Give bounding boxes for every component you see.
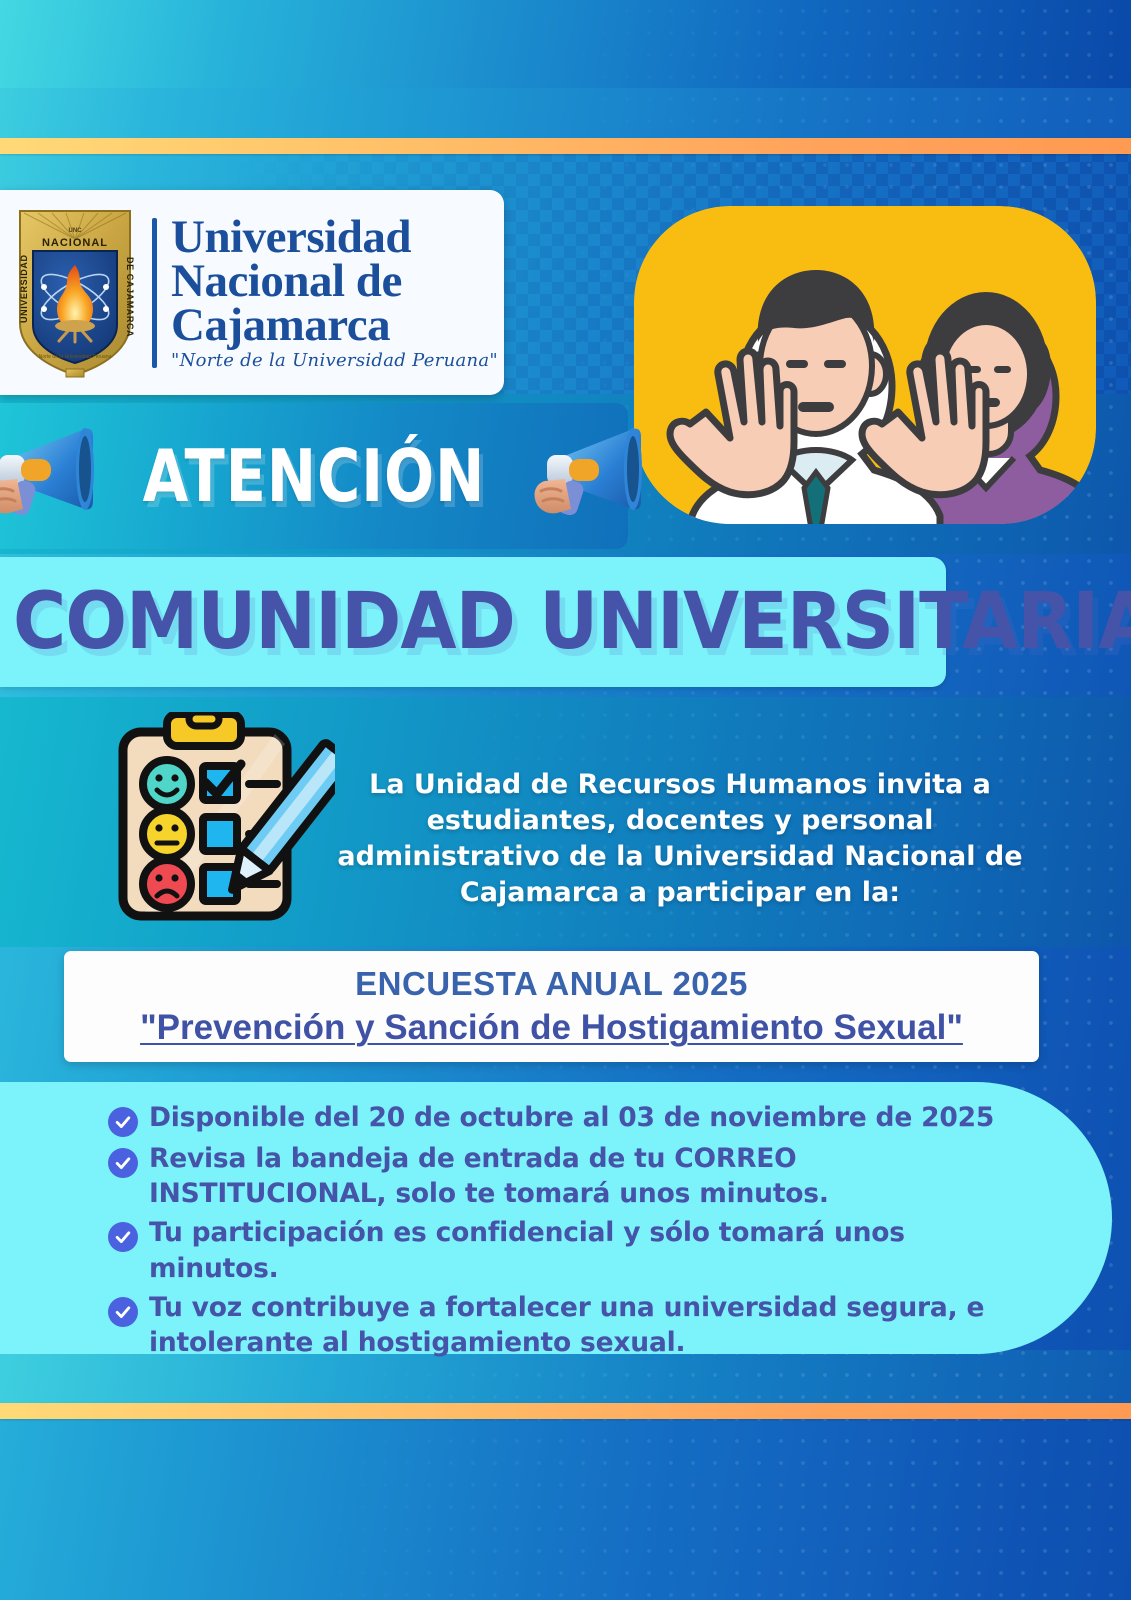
list-item-label: Tu voz contribuye a fortalecer una unive…: [149, 1290, 1010, 1360]
poster-canvas: UNC NACIONAL UNIVERSIDAD DE CAJAMARCA No…: [0, 0, 1131, 1600]
university-slogan: "Norte de la Universidad Peruana": [171, 353, 498, 370]
decorative-stripe-top: [0, 138, 1131, 154]
two-people-stop-gesture-illustration: [634, 206, 1096, 524]
university-name-block: Universidad Nacional de Cajamarca "Norte…: [171, 215, 498, 370]
megaphone-icon: [0, 419, 99, 534]
survey-subtitle: "Prevención y Sanción de Hostigamiento S…: [140, 1008, 963, 1048]
list-item-label: Disponible del 20 de octubre al 03 de no…: [149, 1100, 994, 1135]
svg-text:UNC: UNC: [69, 228, 83, 234]
logo-divider: [152, 218, 157, 368]
svg-text:Norte de la Universidad Peruan: Norte de la Universidad Peruana: [39, 354, 112, 360]
list-item-label: Revisa la bandeja de entrada de tu CORRE…: [149, 1141, 1010, 1211]
list-item-label: Tu participación es confidencial y sólo …: [149, 1215, 1010, 1285]
university-logo-card: UNC NACIONAL UNIVERSIDAD DE CAJAMARCA No…: [0, 190, 504, 395]
survey-title-card: ENCUESTA ANUAL 2025 "Prevención y Sanció…: [64, 951, 1039, 1062]
svg-text:NACIONAL: NACIONAL: [42, 237, 108, 249]
survey-clipboard-icon: [115, 712, 335, 924]
megaphone-icon: [529, 419, 647, 534]
check-circle-icon: [108, 1148, 138, 1178]
check-circle-icon: [108, 1297, 138, 1327]
university-name-line-2: Nacional de: [171, 259, 498, 303]
check-circle-icon: [108, 1222, 138, 1252]
decorative-stripe-bottom: [0, 1403, 1131, 1419]
list-item: Tu voz contribuye a fortalecer una unive…: [108, 1290, 1010, 1360]
list-item: Revisa la bandeja de entrada de tu CORRE…: [108, 1141, 1010, 1211]
university-name-line-3: Cajamarca: [171, 303, 498, 347]
svg-text:UNIVERSIDAD: UNIVERSIDAD: [19, 254, 29, 323]
attention-label: ATENCIÓN: [143, 434, 486, 518]
intro-paragraph: La Unidad de Recursos Humanos invita a e…: [330, 767, 1030, 911]
survey-title: ENCUESTA ANUAL 2025: [355, 965, 748, 1003]
university-crest-icon: UNC NACIONAL UNIVERSIDAD DE CAJAMARCA No…: [14, 205, 136, 381]
details-list: Disponible del 20 de octubre al 03 de no…: [0, 1086, 1010, 1364]
list-item: Tu participación es confidencial y sólo …: [108, 1215, 1010, 1285]
university-name-line-1: Universidad: [171, 215, 498, 259]
list-item: Disponible del 20 de octubre al 03 de no…: [108, 1100, 1010, 1137]
audience-banner: COMUNIDAD UNIVERSITARIA: [0, 557, 946, 687]
background-top-sheen: [0, 0, 1131, 88]
svg-text:DE CAJAMARCA: DE CAJAMARCA: [125, 257, 135, 337]
check-circle-icon: [108, 1107, 138, 1137]
attention-banner: ATENCIÓN: [0, 403, 628, 549]
audience-label: COMUNIDAD UNIVERSITARIA: [0, 577, 1131, 667]
